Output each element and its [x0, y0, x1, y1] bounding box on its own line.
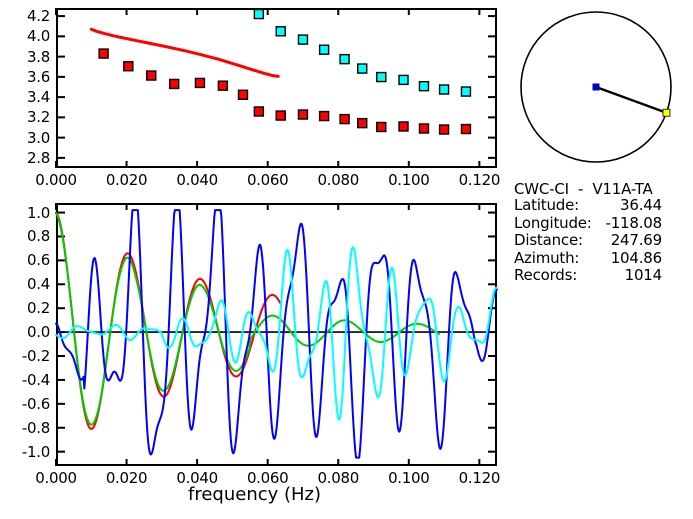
station-info-value-longitude: -118.08 [514, 214, 662, 232]
station-info-value-latitude: 36.44 [514, 196, 662, 214]
station-info-value-records: 1014 [514, 266, 662, 284]
azimuth-event-dot [663, 109, 670, 116]
azimuth-center-station-dot [593, 84, 600, 91]
figure-root: 0.0000.0200.0400.0600.0800.1000.1202.83.… [0, 0, 693, 519]
station-info-value-distance: 247.69 [514, 231, 662, 249]
azimuth-ray [596, 87, 666, 113]
station-info-value-azimuth: 104.86 [514, 249, 662, 267]
